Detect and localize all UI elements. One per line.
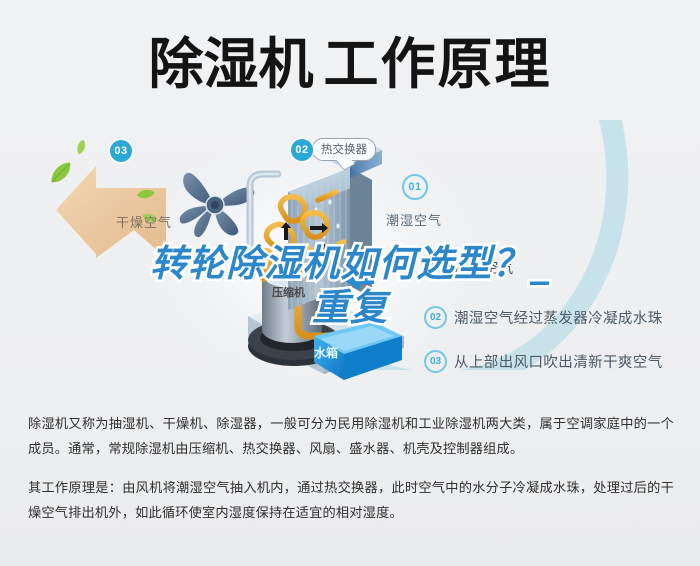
legend-item-03: 03 从上部出风口吹出清新干爽空气 [424, 350, 663, 373]
legend-badge-03: 03 [424, 350, 447, 373]
legend-text-01: 潮湿空气 [454, 257, 514, 278]
legend-item-01: 01 潮湿空气 [424, 256, 514, 279]
article-paragraph-2: 其工作原理是：由风机将潮湿空气抽入机内，通过热交换器，此时空气中的水分子冷凝成水… [28, 476, 674, 526]
legend-text-03: 从上部出风口吹出清新干爽空气 [454, 351, 663, 372]
legend-text-02: 潮湿空气经过蒸发器冷凝成水珠 [454, 307, 663, 328]
page-title-part1: 除湿机 [148, 32, 313, 96]
article-paragraph-1: 除湿机又称为抽湿机、干燥机、除湿器，一般可分为民用除湿机和工业除湿机两大类，属于… [28, 412, 674, 462]
page-title: 除湿机工作原理 [0, 20, 700, 108]
legend-badge-01: 01 [424, 256, 447, 279]
page-root: 除湿机工作原理 [0, 0, 700, 566]
page-title-text: 除湿机工作原理 [148, 37, 551, 92]
legend-list: 01 潮湿空气 02 潮湿空气经过蒸发器冷凝成水珠 03 从上部出风口吹出清新干… [0, 112, 700, 400]
article-body: 除湿机又称为抽湿机、干燥机、除湿器，一般可分为民用除湿机和工业除湿机两大类，属于… [28, 412, 674, 526]
legend-badge-02: 02 [424, 306, 447, 329]
legend-item-02: 02 潮湿空气经过蒸发器冷凝成水珠 [424, 306, 663, 329]
page-title-part2: 工作原理 [324, 32, 552, 96]
